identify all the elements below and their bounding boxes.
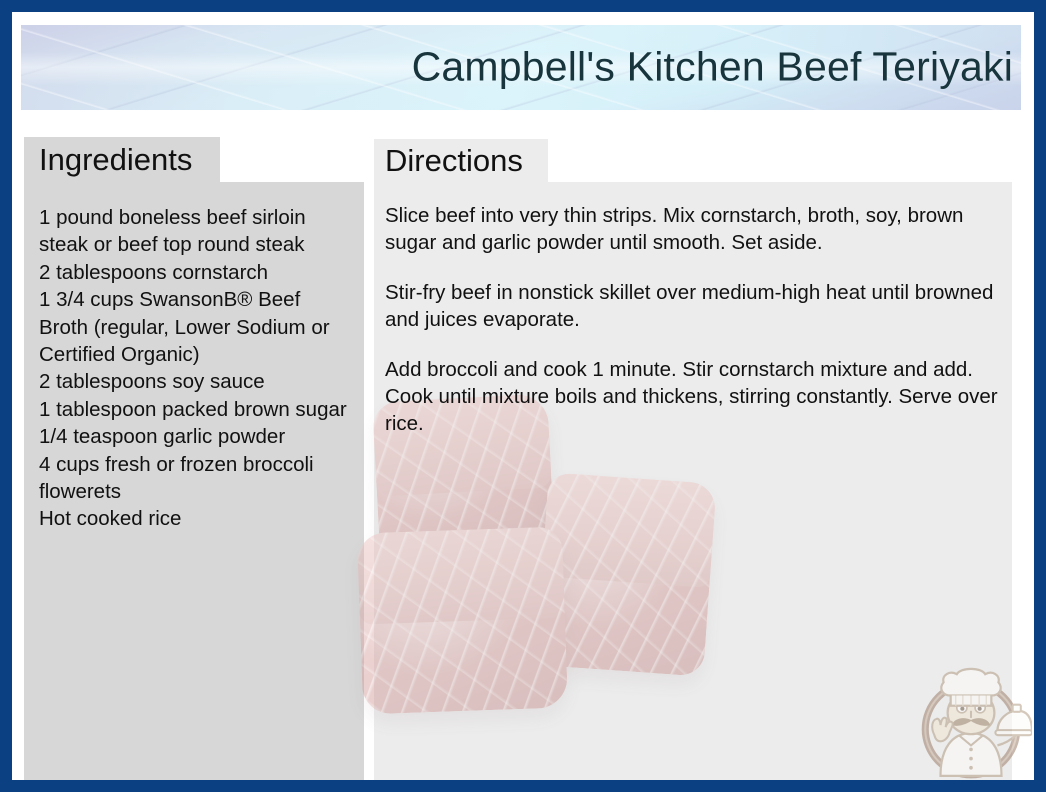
chef-logo-icon (910, 662, 1032, 784)
slide-canvas: Campbell's Kitchen Beef Teriyaki Ingredi… (12, 12, 1034, 780)
directions-step: Stir-fry beef in nonstick skillet over m… (385, 279, 1001, 334)
directions-heading-label: Directions (385, 145, 523, 176)
ingredients-heading-label: Ingredients (39, 144, 192, 175)
chef-logo (910, 662, 1032, 784)
ingredients-list: 1 pound boneless beef sirloin steak or b… (39, 204, 350, 533)
ingredients-header: Ingredients (24, 137, 220, 182)
title-banner: Campbell's Kitchen Beef Teriyaki (21, 25, 1021, 110)
ingredients-panel: 1 pound boneless beef sirloin steak or b… (24, 182, 364, 783)
directions-header: Directions (374, 139, 548, 182)
directions-step: Add broccoli and cook 1 minute. Stir cor… (385, 356, 1001, 438)
page-title: Campbell's Kitchen Beef Teriyaki (412, 46, 1013, 87)
directions-step: Slice beef into very thin strips. Mix co… (385, 202, 1001, 257)
recipe-slide: Campbell's Kitchen Beef Teriyaki Ingredi… (0, 0, 1046, 792)
